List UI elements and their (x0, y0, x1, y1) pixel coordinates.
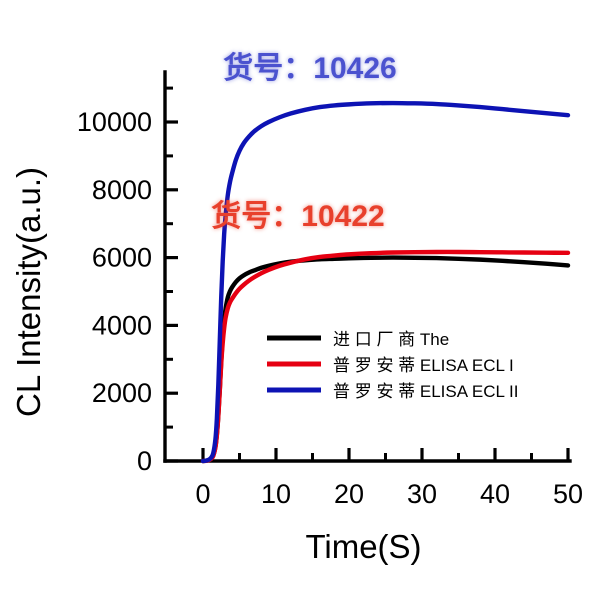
catalog-number-10426: 货号：10426 (223, 51, 396, 85)
y-tick-label: 10000 (77, 107, 152, 137)
y-tick-label: 2000 (92, 378, 152, 408)
legend-label-0: 进 口 厂 商 The (333, 330, 449, 349)
y-tick-label: 4000 (92, 310, 152, 340)
y-axis-title: CL Intensity(a.u.) (10, 167, 47, 417)
y-tick-label: 0 (137, 446, 152, 476)
x-axis-title: Time(S) (305, 528, 421, 565)
x-tick-label: 0 (195, 479, 210, 509)
axis-ticks (165, 88, 568, 461)
chart-figure: 020004000600080001000001020304050 Time(S… (0, 0, 600, 600)
legend-label-1: 普 罗 安 蒂 ELISA ECL I (333, 356, 514, 375)
x-tick-label: 10 (261, 479, 291, 509)
catalog-number-10422: 货号：10422 (211, 199, 384, 233)
chart-annotations: 货号：10426货号：10426货号：10422货号：10422 (211, 51, 396, 233)
x-tick-label: 40 (480, 479, 510, 509)
axis-spines (165, 72, 570, 461)
chart-legend: 进 口 厂 商 The普 罗 安 蒂 ELISA ECL I普 罗 安 蒂 EL… (267, 330, 518, 401)
axis-tick-labels: 020004000600080001000001020304050 (77, 107, 583, 509)
chart-canvas: 020004000600080001000001020304050 Time(S… (0, 0, 600, 600)
y-tick-label: 8000 (92, 175, 152, 205)
x-tick-label: 20 (334, 479, 364, 509)
y-tick-label: 6000 (92, 243, 152, 273)
legend-label-2: 普 罗 安 蒂 ELISA ECL II (333, 382, 518, 401)
x-tick-label: 50 (553, 479, 583, 509)
x-tick-label: 30 (407, 479, 437, 509)
series-line-2 (203, 103, 568, 461)
data-series-layer (203, 103, 568, 461)
